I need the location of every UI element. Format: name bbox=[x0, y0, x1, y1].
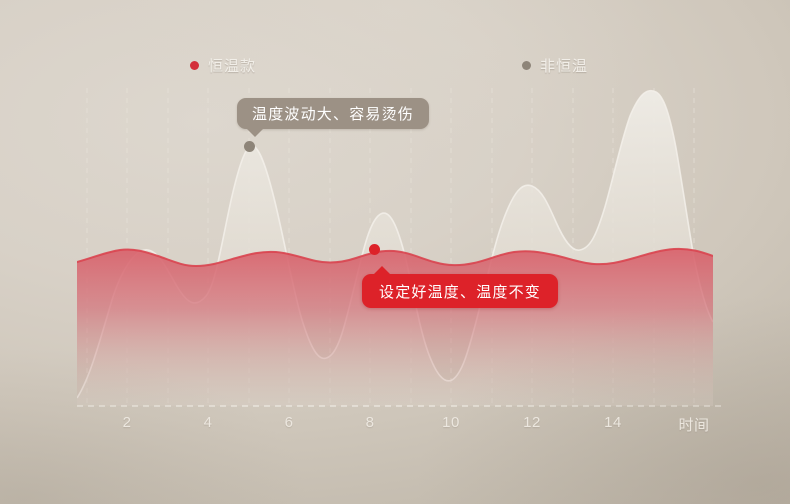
legend-item-non-thermostatic[interactable]: 非恒温 bbox=[522, 55, 588, 76]
legend-dot-cold-icon bbox=[522, 61, 531, 70]
x-tick-12: 12 bbox=[523, 414, 541, 431]
legend-label-thermostatic: 恒温款 bbox=[208, 55, 256, 76]
x-axis-labels: 2 4 6 8 10 12 14 时间 bbox=[0, 414, 790, 438]
x-tick-2: 2 bbox=[123, 414, 132, 431]
x-axis-title: 时间 bbox=[678, 414, 709, 435]
x-tick-14: 14 bbox=[604, 414, 622, 431]
tooltip-non-thermostatic-text: 温度波动大、容易烫伤 bbox=[252, 103, 414, 124]
chart-legend: 恒温款 非恒温 bbox=[0, 55, 790, 77]
tooltip-pointer-down-icon bbox=[246, 128, 264, 137]
tooltip-non-thermostatic: 温度波动大、容易烫伤 bbox=[237, 98, 429, 129]
x-tick-4: 4 bbox=[204, 414, 213, 431]
x-tick-6: 6 bbox=[285, 414, 294, 431]
tooltip-thermostatic-text: 设定好温度、温度不变 bbox=[379, 281, 541, 302]
chart-container: 恒温款 非恒温 温度波动大、容易烫伤 设定好温度、温度不变 2 4 6 8 10… bbox=[0, 0, 790, 504]
x-tick-8: 8 bbox=[366, 414, 375, 431]
tooltip-thermostatic: 设定好温度、温度不变 bbox=[362, 274, 558, 308]
data-point-marker-thermostatic[interactable] bbox=[369, 244, 380, 255]
tooltip-pointer-up-icon bbox=[373, 266, 391, 275]
x-tick-10: 10 bbox=[442, 414, 460, 431]
series-area-thermostatic bbox=[77, 249, 713, 406]
data-point-marker-non-thermostatic[interactable] bbox=[244, 141, 255, 152]
legend-dot-hot-icon bbox=[190, 61, 199, 70]
legend-item-thermostatic[interactable]: 恒温款 bbox=[190, 55, 256, 76]
legend-label-non-thermostatic: 非恒温 bbox=[540, 55, 588, 76]
